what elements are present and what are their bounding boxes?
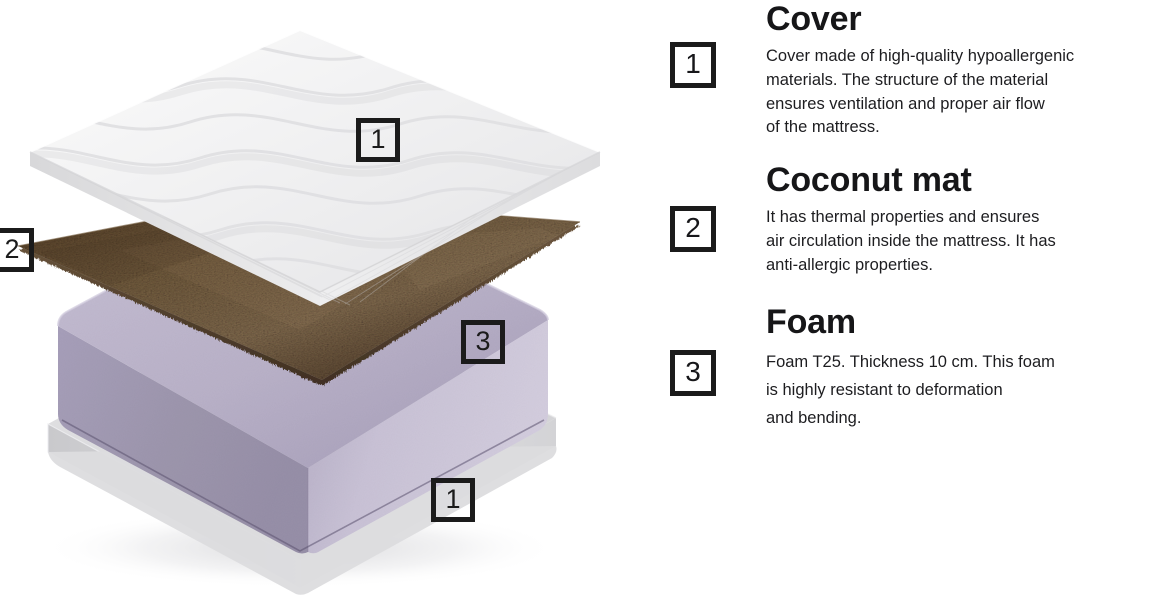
legend-badge-2-label: 2 bbox=[685, 214, 701, 242]
legend-badge-1-label: 1 bbox=[685, 50, 701, 78]
legend-title-coconut-mat: Coconut mat bbox=[766, 163, 1154, 199]
legend-text-coconut-mat: Coconut mat It has thermal properties an… bbox=[766, 163, 1154, 277]
legend-badge-3: 3 bbox=[670, 350, 716, 396]
diagram-marker-foam-label: 3 bbox=[475, 328, 490, 355]
diagram-marker-foam: 3 bbox=[461, 320, 505, 364]
exploded-mattress-diagram: 1 2 3 1 bbox=[0, 0, 660, 605]
diagram-marker-base: 1 bbox=[431, 478, 475, 522]
legend-badge-2: 2 bbox=[670, 206, 716, 252]
diagram-marker-coconut-label: 2 bbox=[4, 236, 19, 263]
legend-badge-1: 1 bbox=[670, 42, 716, 88]
mattress-layers-infographic: 1 2 3 1 1 Cover Cover made of high-quali… bbox=[0, 0, 1154, 605]
legend-text-cover: Cover Cover made of high-quality hypoall… bbox=[766, 2, 1154, 140]
diagram-marker-cover: 1 bbox=[356, 118, 400, 162]
legend-body-cover: Cover made of high-quality hypoallergeni… bbox=[766, 45, 1154, 141]
legend-body-foam: Foam T25. Thickness 10 cm. This foam is … bbox=[766, 348, 1154, 433]
legend-title-cover: Cover bbox=[766, 2, 1154, 38]
legend-title-foam: Foam bbox=[766, 305, 1154, 341]
legend-badge-3-label: 3 bbox=[685, 358, 701, 386]
diagram-marker-coconut: 2 bbox=[0, 228, 34, 272]
diagram-marker-base-label: 1 bbox=[445, 486, 460, 513]
legend-body-coconut-mat: It has thermal properties and ensures ai… bbox=[766, 206, 1154, 278]
legend-panel: 1 Cover Cover made of high-quality hypoa… bbox=[660, 0, 1154, 605]
legend-text-foam: Foam Foam T25. Thickness 10 cm. This foa… bbox=[766, 305, 1154, 433]
diagram-marker-cover-label: 1 bbox=[370, 126, 385, 153]
